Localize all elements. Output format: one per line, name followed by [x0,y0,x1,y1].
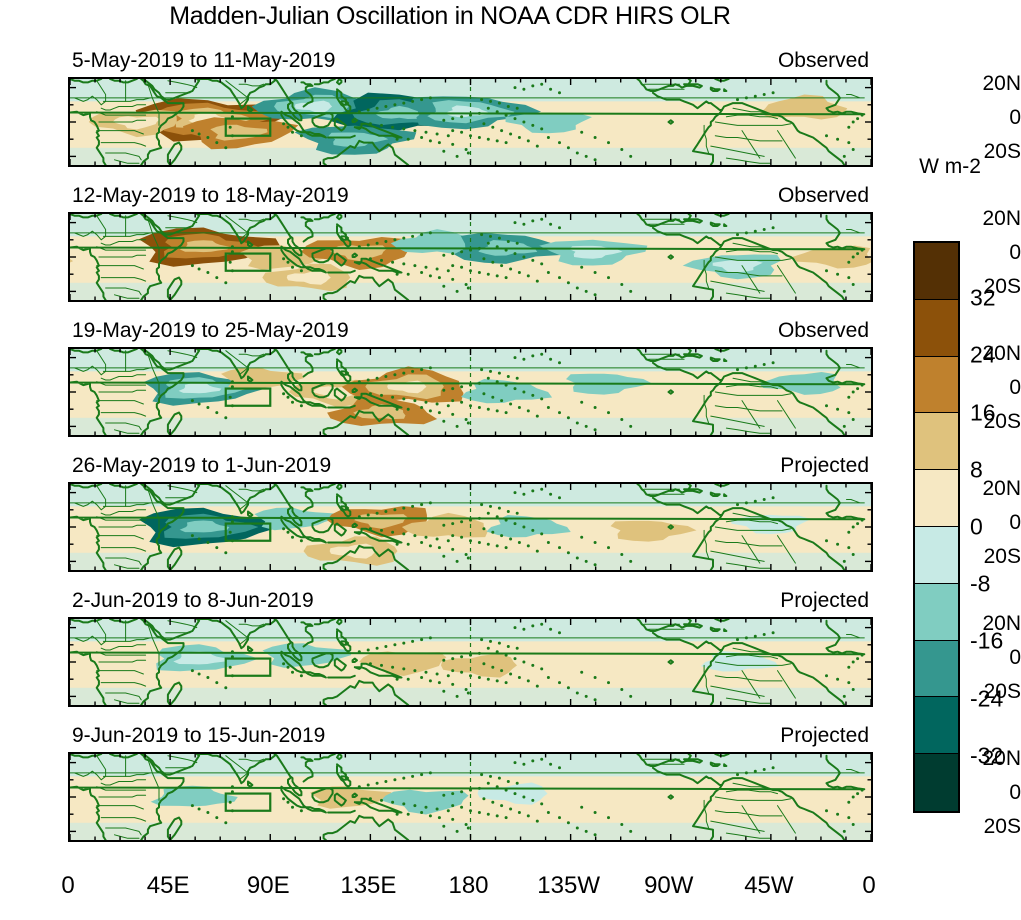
x-axis-tick-label: 45W [744,872,793,900]
x-axis-tick-label: 90E [247,872,290,900]
colorbar-band [915,641,958,698]
y-axis-tick-label: 20N [959,72,1021,96]
figure-root: Madden-Julian Oscillation in NOAA CDR HI… [0,0,1021,920]
x-axis-tick-label: 90W [644,872,693,900]
colorbar [913,241,960,813]
colorbar-tick-label: -16 [970,628,1003,655]
colorbar-band [915,243,958,300]
x-axis-tick-label: 0 [862,872,875,900]
x-axis-tick-label: 0 [61,872,74,900]
y-axis-tick-label: 20N [959,477,1021,501]
map-panel[interactable] [68,482,873,572]
map-field [70,79,871,165]
colorbar-tick-label: -24 [970,685,1003,712]
colorbar-band [915,413,958,470]
y-axis-tick-label: 0 [959,241,1021,265]
map-field [70,349,871,435]
y-axis-tick-label: 20S [959,545,1021,569]
map-field [70,214,871,300]
map-field [70,619,871,705]
y-axis-tick-label: 0 [959,511,1021,535]
colorbar-band [915,584,958,641]
panel-status-label: Projected [68,589,869,613]
y-axis-tick-label: 20S [959,815,1021,839]
map-field [70,484,871,570]
map-panel[interactable] [68,212,873,302]
map-panel[interactable] [68,347,873,437]
colorbar-band [915,470,958,527]
colorbar-band [915,300,958,357]
map-panel[interactable] [68,752,873,842]
colorbar-tick-label: 24 [970,342,996,369]
panel-status-label: Projected [68,454,869,478]
panel-status-label: Projected [68,724,869,748]
x-axis-tick-label: 180 [448,872,488,900]
colorbar-tick-label: 32 [970,285,996,312]
map-panel[interactable] [68,77,873,167]
colorbar-band [915,527,958,584]
colorbar-band [915,754,958,811]
x-axis-tick-label: 135E [340,872,396,900]
page-title: Madden-Julian Oscillation in NOAA CDR HI… [0,2,900,31]
colorbar-tick-label: 16 [970,399,996,426]
panel-status-label: Observed [68,319,869,343]
y-axis-tick-label: 0 [959,106,1021,130]
y-axis-tick-label: 0 [959,376,1021,400]
map-panel[interactable] [68,617,873,707]
colorbar-tick-label: 0 [970,514,983,541]
y-axis-tick-label: 20N [959,207,1021,231]
colorbar-tick-label: -32 [970,742,1003,769]
x-axis-tick-label: 135W [537,872,600,900]
colorbar-band [915,697,958,754]
colorbar-band [915,357,958,414]
x-axis-tick-label: 45E [147,872,190,900]
map-field [70,754,871,840]
panel-status-label: Observed [68,49,869,73]
panel-status-label: Observed [68,184,869,208]
y-axis-tick-label: 0 [959,781,1021,805]
colorbar-tick-label: -8 [970,571,990,598]
colorbar-tick-label: 8 [970,456,983,483]
colorbar-unit-label: W m-2 [890,155,1010,179]
